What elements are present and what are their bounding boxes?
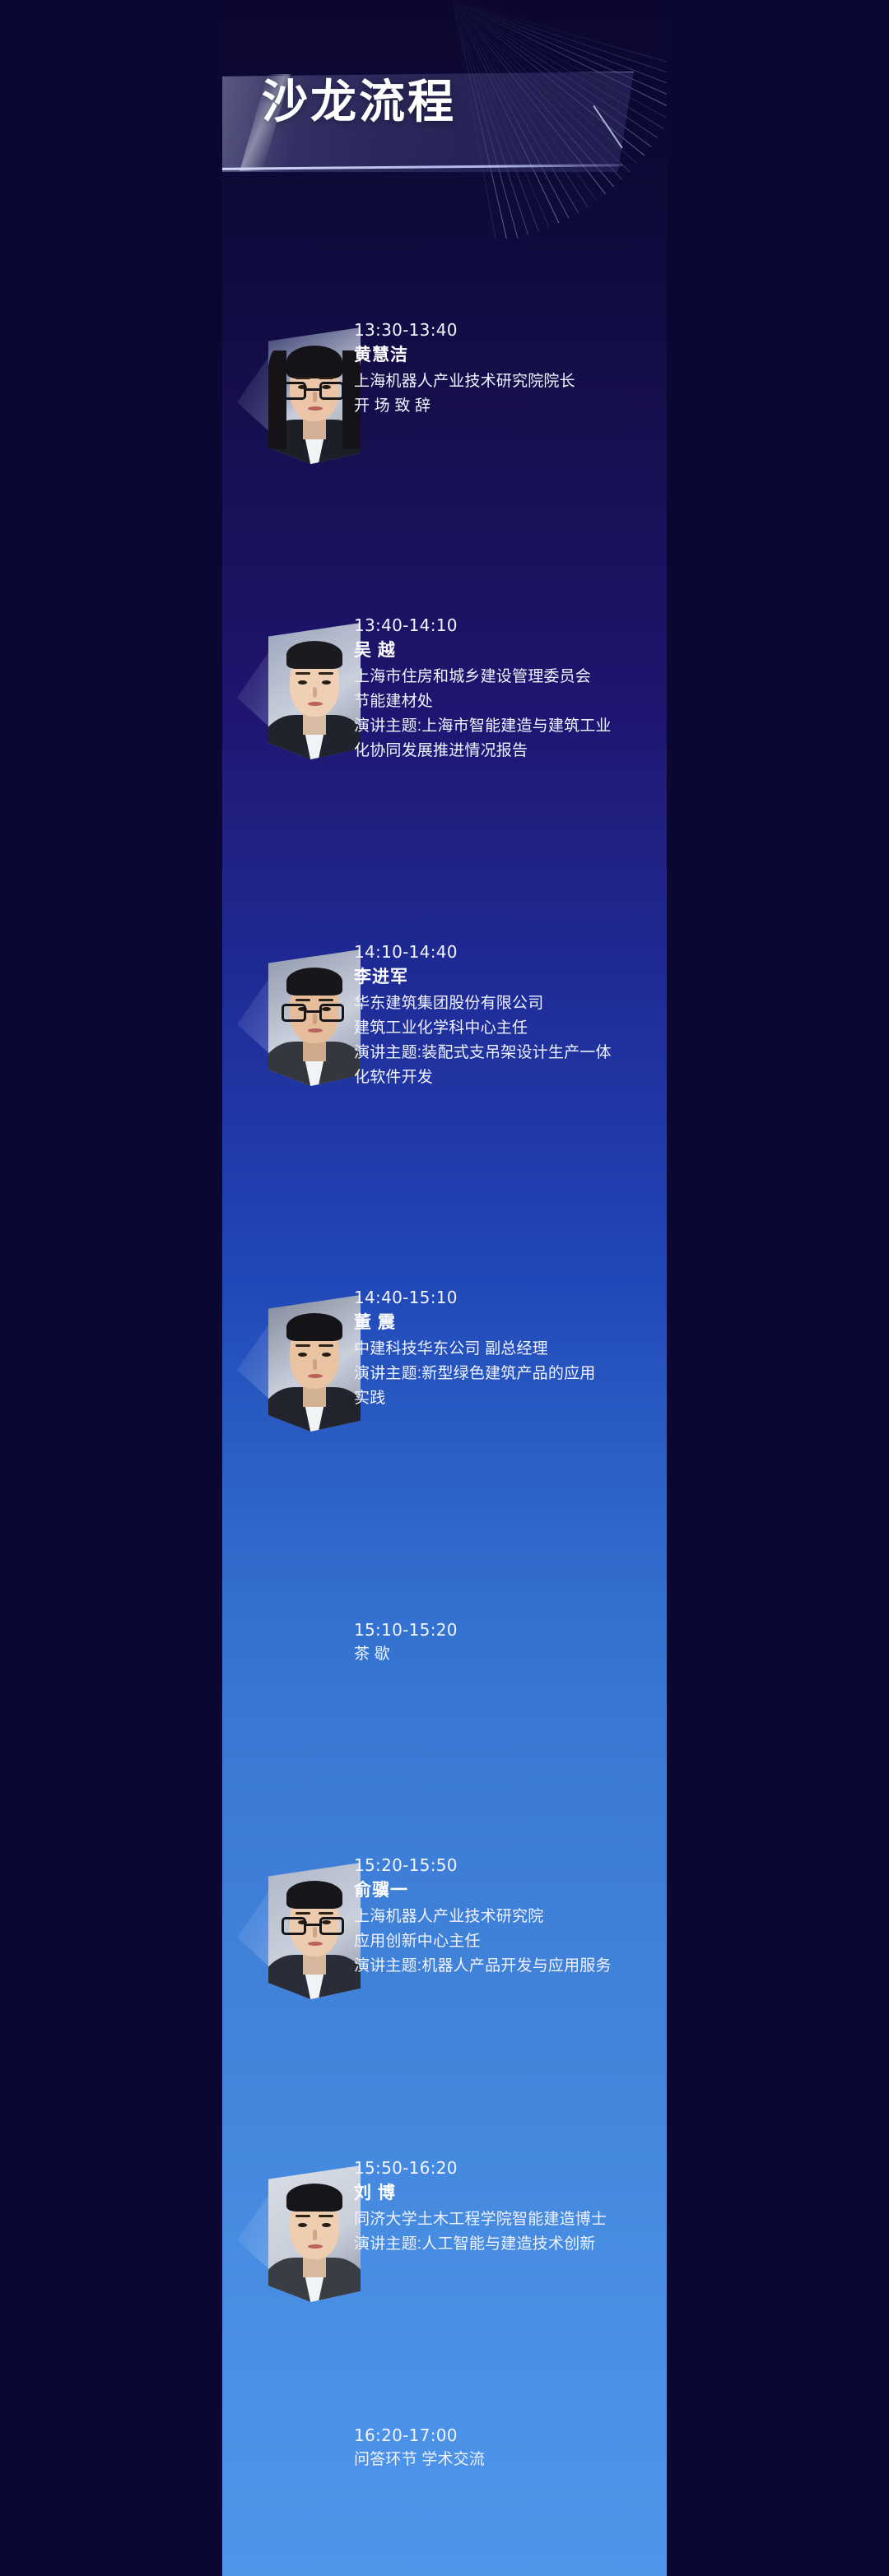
entry-detail-line: 华东建筑集团股份有限公司 — [354, 991, 665, 1016]
entry-detail-line: 茶 歇 — [354, 1642, 665, 1667]
speaker-name: 李进军 — [354, 964, 665, 991]
entry-detail-line: 上海机器人产业技术研究院院长 — [354, 369, 665, 394]
entry-text: 13:40-14:10吴 越上海市住房和城乡建设管理委员会节能建材处演讲主题:上… — [354, 613, 665, 764]
avatar — [268, 1863, 361, 1999]
entry-text: 14:10-14:40李进军华东建筑集团股份有限公司建筑工业化学科中心主任演讲主… — [354, 940, 665, 1090]
entry-detail-line: 演讲主题:新型绿色建筑产品的应用 — [354, 1362, 665, 1386]
entry-text: 15:20-15:50俞骥一上海机器人产业技术研究院应用创新中心主任演讲主题:机… — [354, 1853, 665, 1979]
speaker-name: 黄慧洁 — [354, 342, 665, 369]
speaker-photo-frame — [237, 327, 361, 464]
avatar — [268, 327, 361, 464]
entry-time: 14:10-14:40 — [354, 940, 665, 964]
entry-text: 14:40-15:10董 震中建科技华东公司 副总经理演讲主题:新型绿色建筑产品… — [354, 1285, 665, 1411]
salon-agenda-poster: 沙龙流程 13:30-13:40黄慧洁上海机器人产业技术研究院院长开 场 致 辞 — [222, 0, 667, 2576]
avatar — [268, 623, 361, 759]
entry-detail-line: 化软件开发 — [354, 1065, 665, 1090]
speaker-name: 吴 越 — [354, 638, 665, 665]
speaker-photo-frame — [237, 1295, 361, 1432]
entry-detail-line: 化协同发展推进情况报告 — [354, 739, 665, 764]
entry-detail-line: 上海市住房和城乡建设管理委员会 — [354, 665, 665, 689]
entry-detail-line: 节能建材处 — [354, 689, 665, 714]
entry-detail-line: 演讲主题:机器人产品开发与应用服务 — [354, 1954, 665, 1979]
speaker-name: 刘 博 — [354, 2180, 665, 2207]
entry-time: 15:50-16:20 — [354, 2156, 665, 2180]
title-banner-tip — [594, 105, 652, 173]
entry-time: 15:10-15:20 — [354, 1618, 665, 1642]
entry-detail-line: 建筑工业化学科中心主任 — [354, 1016, 665, 1041]
entry-time: 14:40-15:10 — [354, 1285, 665, 1310]
page-title: 沙龙流程 — [262, 80, 456, 126]
entry-detail-line: 实践 — [354, 1386, 665, 1411]
entry-detail-line: 问答环节 学术交流 — [354, 2448, 665, 2472]
entry-detail-line: 上海机器人产业技术研究院 — [354, 1905, 665, 1929]
avatar — [268, 949, 361, 1086]
entry-detail-line: 同济大学土木工程学院智能建造博士 — [354, 2207, 665, 2232]
entry-detail-line: 开 场 致 辞 — [354, 394, 665, 419]
avatar — [268, 2165, 361, 2302]
entry-time: 13:40-14:10 — [354, 613, 665, 638]
speaker-name: 董 震 — [354, 1310, 665, 1337]
entry-text: 15:10-15:20茶 歇 — [354, 1618, 665, 1667]
speaker-photo-frame — [237, 949, 361, 1086]
poster-header: 沙龙流程 — [222, 0, 667, 272]
entry-detail-line: 中建科技华东公司 副总经理 — [354, 1337, 665, 1362]
entry-detail-line: 应用创新中心主任 — [354, 1929, 665, 1954]
avatar — [268, 1295, 361, 1432]
speaker-photo-frame — [237, 623, 361, 759]
entry-text: 13:30-13:40黄慧洁上海机器人产业技术研究院院长开 场 致 辞 — [354, 318, 665, 419]
entry-time: 15:20-15:50 — [354, 1853, 665, 1877]
entry-text: 16:20-17:00问答环节 学术交流 — [354, 2423, 665, 2472]
speaker-photo-frame — [237, 2165, 361, 2302]
entry-detail-line: 演讲主题:装配式支吊架设计生产一体 — [354, 1041, 665, 1065]
entry-detail-line: 演讲主题:人工智能与建造技术创新 — [354, 2232, 665, 2257]
entry-time: 13:30-13:40 — [354, 318, 665, 342]
speaker-photo-frame — [237, 1863, 361, 1999]
entry-time: 16:20-17:00 — [354, 2423, 665, 2448]
entry-detail-line: 演讲主题:上海市智能建造与建筑工业 — [354, 714, 665, 739]
entry-text: 15:50-16:20刘 博同济大学土木工程学院智能建造博士演讲主题:人工智能与… — [354, 2156, 665, 2257]
speaker-name: 俞骥一 — [354, 1877, 665, 1905]
